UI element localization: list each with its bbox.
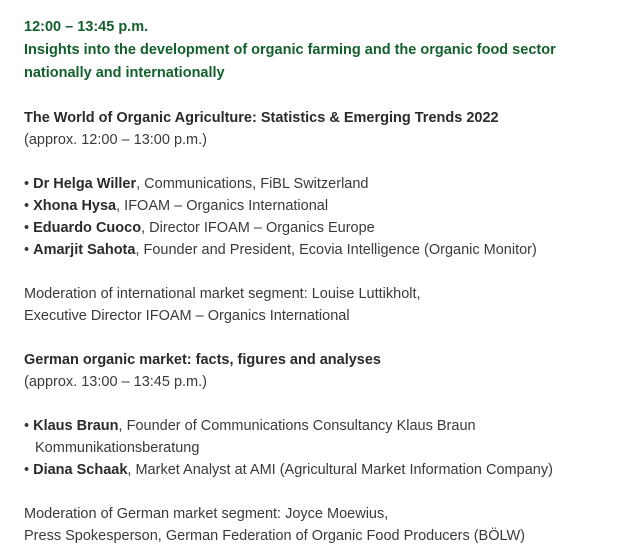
moderation-international: Moderation of international market segme…: [24, 283, 620, 327]
speaker-name: Eduardo Cuoco: [33, 220, 141, 236]
segment-german: German organic market: facts, figures an…: [24, 349, 620, 393]
speaker-list: • Dr Helga Willer, Communications, FiBL …: [24, 173, 620, 261]
speaker-role: , Communications, FiBL Switzerland: [136, 176, 368, 192]
speaker-name: Amarjit Sahota: [33, 242, 135, 258]
speaker-list-international: • Dr Helga Willer, Communications, FiBL …: [24, 173, 620, 261]
speaker-role: , IFOAM – Organics International: [116, 198, 328, 214]
speaker-role: , Founder and President, Ecovia Intellig…: [135, 242, 536, 258]
moderation-german: Moderation of German market segment: Joy…: [24, 503, 620, 547]
speaker-list-german: • Klaus Braun, Founder of Communications…: [24, 415, 620, 481]
bullet-icon: •: [24, 462, 29, 478]
session-header: 12:00 – 13:45 p.m. Insights into the dev…: [24, 16, 620, 85]
session-title-line-2: nationally and internationally: [24, 65, 225, 81]
list-item: • Eduardo Cuoco, Director IFOAM – Organi…: [24, 217, 620, 239]
segment-title: German organic market: facts, figures an…: [24, 349, 620, 371]
list-item: • Dr Helga Willer, Communications, FiBL …: [24, 173, 620, 195]
session-time: 12:00 – 13:45 p.m.: [24, 16, 620, 39]
speaker-role: , Market Analyst at AMI (Agricultural Ma…: [127, 462, 552, 478]
speaker-name: Klaus Braun: [33, 418, 118, 434]
segment-approx-time: (approx. 13:00 – 13:45 p.m.): [24, 371, 620, 393]
moderation-line-1: Moderation of German market segment: Joy…: [24, 503, 620, 525]
list-item: • Klaus Braun, Founder of Communications…: [24, 415, 620, 459]
bullet-icon: •: [24, 198, 29, 214]
programme-page: 12:00 – 13:45 p.m. Insights into the dev…: [0, 0, 640, 560]
session-title-line-1: Insights into the development of organic…: [24, 42, 556, 58]
bullet-icon: •: [24, 176, 29, 192]
segment-international: The World of Organic Agriculture: Statis…: [24, 107, 620, 151]
speaker-name: Dr Helga Willer: [33, 176, 136, 192]
speaker-name: Xhona Hysa: [33, 198, 116, 214]
list-item: • Amarjit Sahota, Founder and President,…: [24, 239, 620, 261]
segment-approx-time: (approx. 12:00 – 13:00 p.m.): [24, 129, 620, 151]
bullet-icon: •: [24, 418, 29, 434]
bullet-icon: •: [24, 242, 29, 258]
moderation-line-2: Executive Director IFOAM – Organics Inte…: [24, 305, 620, 327]
segment-title: The World of Organic Agriculture: Statis…: [24, 107, 620, 129]
moderation-line-1: Moderation of international market segme…: [24, 283, 620, 305]
speaker-name: Diana Schaak: [33, 462, 127, 478]
session-title: Insights into the development of organic…: [24, 39, 604, 85]
speaker-list: • Klaus Braun, Founder of Communications…: [24, 415, 620, 481]
list-item: • Xhona Hysa, IFOAM – Organics Internati…: [24, 195, 620, 217]
moderation-line-2: Press Spokesperson, German Federation of…: [24, 525, 620, 547]
speaker-role: , Director IFOAM – Organics Europe: [141, 220, 375, 236]
list-item: • Diana Schaak, Market Analyst at AMI (A…: [24, 459, 620, 481]
bullet-icon: •: [24, 220, 29, 236]
